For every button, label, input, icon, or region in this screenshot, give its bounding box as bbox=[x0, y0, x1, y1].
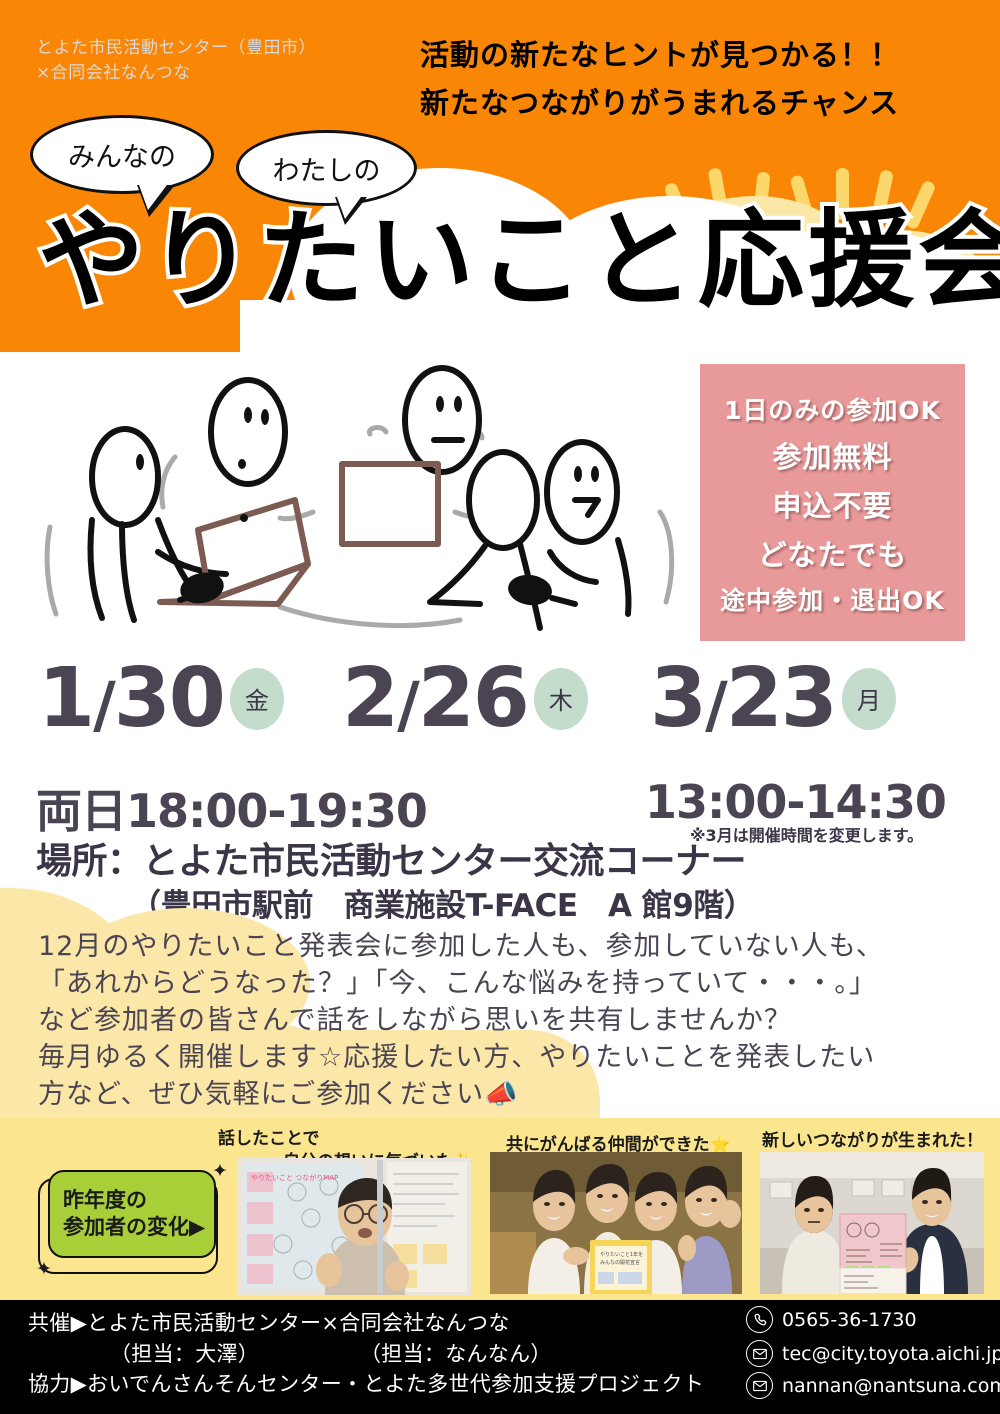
sparkle-icon-1: ✦ bbox=[212, 1160, 228, 1182]
pink-box-item-1: 参加無料 bbox=[772, 434, 892, 476]
pink-box-item-0: 1日のみの参加OK bbox=[724, 391, 941, 427]
body-line-3: など参加者の皆さんで話をしながら思いを共有しませんか？ bbox=[38, 1002, 978, 1039]
photo-caption-1-line-1: 話したことで bbox=[218, 1124, 320, 1149]
footer-cooperation: 協力▶おいでんさんそんセンター・とよた多世代参加支援プロジェクト bbox=[28, 1368, 704, 1398]
speech-bubble-minna: みんなの bbox=[30, 115, 214, 194]
pink-box-item-2: 申込不要 bbox=[772, 483, 892, 525]
phone-icon bbox=[746, 1306, 773, 1333]
pink-box-item-4: 途中参加・退出OK bbox=[720, 581, 945, 617]
speech-bubble-minna-label: みんなの bbox=[68, 135, 176, 174]
footer-cohost: 共催▶とよた市民活動センター×合同会社なんつな bbox=[28, 1307, 510, 1337]
tagline-line-1: 活動の新たなヒントが見つかる！！ bbox=[420, 32, 900, 74]
mail-icon bbox=[746, 1340, 773, 1367]
speech-bubble-watashi-label: わたしの bbox=[273, 149, 381, 188]
photo-caption-3: 新しいつながりが生まれた！ bbox=[762, 1126, 983, 1151]
body-line-1: 12月のやりたいこと発表会に参加した人も、参加していない人も、 bbox=[38, 928, 978, 965]
info-pink-box: 1日のみの参加OK 参加無料 申込不要 どなたでも 途中参加・退出OK bbox=[700, 364, 965, 641]
date-2-number: 2/26 bbox=[342, 660, 528, 738]
pink-box-item-3: どなたでも bbox=[758, 532, 907, 574]
venue-name: 場所：とよた市民活動センター交流コーナー bbox=[36, 832, 746, 884]
mail-icon bbox=[746, 1372, 773, 1399]
date-2-dayofweek: 木 bbox=[534, 668, 588, 730]
organizer-line-2: ×合同会社なんつな bbox=[36, 58, 191, 83]
meeting-illustration bbox=[30, 352, 700, 642]
footer-phone-number: 0565-36-1730 bbox=[782, 1309, 917, 1331]
footer-email-1-address: tec@city.toyota.aichi.jp bbox=[782, 1343, 1000, 1365]
footer-email-2-address: nannan@nantsuna.com bbox=[782, 1375, 1000, 1397]
date-item-1: 1/30 金 bbox=[38, 660, 284, 738]
body-line-2: 「あれからどうなった？」「今、こんな悩みを持っていて・・・。」 bbox=[38, 965, 978, 1002]
organizer-line-1: とよた市民活動センター（豊田市） bbox=[36, 33, 316, 58]
photo-group-four: やりたいこと1年をみんなの開花宣言 bbox=[490, 1152, 742, 1294]
body-line-4: 毎月ゆるく開催します☆応援したい方、やりたいことを発表したい bbox=[38, 1039, 978, 1076]
photo-presenter: やりたいこと つながりMAP bbox=[237, 1158, 471, 1295]
footer-contact-person-1: （担当：大澤） bbox=[110, 1338, 259, 1368]
footer-email-2[interactable]: nannan@nantsuna.com bbox=[746, 1372, 1000, 1399]
photo-two-men bbox=[760, 1152, 984, 1294]
date-1-number: 1/30 bbox=[38, 660, 224, 738]
date-3-dayofweek: 月 bbox=[842, 668, 896, 730]
page-title: やりたいこと応援会 bbox=[38, 208, 1000, 314]
svg-text:みんなの開花宣言: みんなの開花宣言 bbox=[600, 1259, 640, 1266]
date-item-2: 2/26 木 bbox=[342, 660, 588, 738]
green-label-line-1: 昨年度の bbox=[63, 1187, 214, 1214]
sparkle-icon-2: ✦ bbox=[36, 1258, 52, 1280]
date-item-3: 3/23 月 bbox=[650, 660, 896, 738]
date-1-dayofweek: 金 bbox=[230, 668, 284, 730]
footer-email-1[interactable]: tec@city.toyota.aichi.jp bbox=[746, 1340, 1000, 1367]
poster-root: とよた市民活動センター（豊田市） ×合同会社なんつな 活動の新たなヒントが見つか… bbox=[0, 0, 1000, 1414]
footer-contact-person-2: （担当：なんなん） bbox=[360, 1338, 552, 1368]
green-label-box: 昨年度の 参加者の変化▶ bbox=[48, 1170, 216, 1258]
time-march: 13:00-14:30 bbox=[645, 775, 946, 829]
body-line-5: 方など、ぜひ気軽にご参加ください📣 bbox=[38, 1076, 978, 1113]
body-paragraph: 12月のやりたいこと発表会に参加した人も、参加していない人も、 「あれからどうな… bbox=[38, 928, 978, 1113]
tagline-line-2: 新たなつながりがうまれるチャンス bbox=[420, 80, 899, 122]
event-dates: 1/30 金 2/26 木 3/23 月 bbox=[30, 660, 970, 770]
svg-text:やりたいこと1年を: やりたいこと1年を bbox=[600, 1251, 643, 1258]
date-3-number: 3/23 bbox=[650, 660, 836, 738]
footer-phone[interactable]: 0565-36-1730 bbox=[746, 1306, 917, 1333]
green-label-line-2: 参加者の変化▶ bbox=[63, 1214, 214, 1241]
svg-text:やりたいこと つながりMAP: やりたいこと つながりMAP bbox=[251, 1173, 338, 1182]
speech-bubble-watashi: わたしの bbox=[236, 130, 417, 206]
